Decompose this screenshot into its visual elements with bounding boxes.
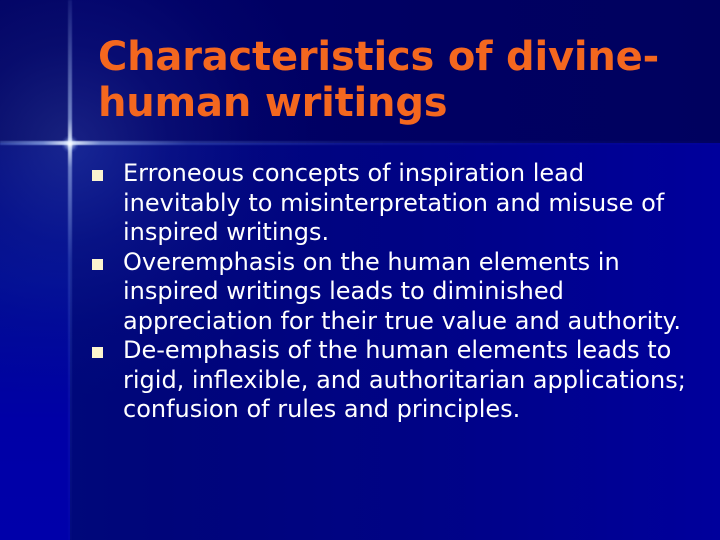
bullet-text: Erroneous concepts of inspiration lead i…: [123, 159, 692, 248]
bullet-text: Overemphasis on the human elements in in…: [123, 248, 692, 337]
list-item: Erroneous concepts of inspiration lead i…: [92, 159, 692, 248]
square-bullet-icon: [92, 170, 103, 181]
slide-content: Characteristics of divine- human writing…: [0, 0, 720, 540]
list-item: De-emphasis of the human elements leads …: [92, 336, 692, 425]
square-bullet-icon: [92, 259, 103, 270]
square-bullet-icon: [92, 347, 103, 358]
slide-title: Characteristics of divine- human writing…: [98, 34, 698, 126]
slide-bullet-list: Erroneous concepts of inspiration lead i…: [92, 159, 692, 425]
bullet-text: De-emphasis of the human elements leads …: [123, 336, 692, 425]
list-item: Overemphasis on the human elements in in…: [92, 248, 692, 337]
presentation-slide: Characteristics of divine- human writing…: [0, 0, 720, 540]
